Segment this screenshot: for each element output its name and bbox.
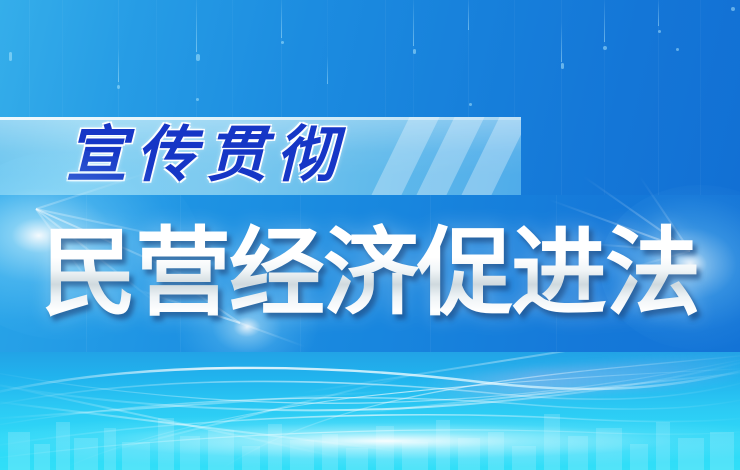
diagonal-stripes-decor xyxy=(380,117,521,195)
light-streak xyxy=(300,352,740,394)
particle-dot xyxy=(9,52,12,61)
particle-dot xyxy=(676,48,679,51)
particle-tick xyxy=(561,22,562,62)
header-band: 宣传贯彻 xyxy=(0,117,521,195)
particle-dot xyxy=(281,41,284,44)
header-title: 宣传贯彻 xyxy=(66,126,346,187)
bottom-wave-background xyxy=(0,352,740,470)
particle-dot xyxy=(413,49,416,54)
particle-dot xyxy=(117,85,120,89)
particle-tick xyxy=(281,0,282,38)
particle-dot xyxy=(469,103,472,106)
particle-tick xyxy=(118,48,119,82)
particle-tick xyxy=(327,56,328,84)
particle-dot xyxy=(561,63,564,69)
particle-tick xyxy=(604,0,605,42)
bottom-horizon-glow xyxy=(0,414,740,468)
poster-banner: 宣传贯彻 民营经济促进法 民营经济促进法 xyxy=(0,0,740,470)
particle-dot xyxy=(196,54,200,61)
particle-tick xyxy=(413,0,414,46)
particle-tick xyxy=(196,0,197,52)
particle-dot xyxy=(196,98,199,101)
particle-dot xyxy=(603,46,607,50)
particle-dot xyxy=(658,30,661,33)
particle-tick xyxy=(658,0,659,26)
particle-tick xyxy=(468,0,469,30)
particle-dot xyxy=(731,7,735,11)
main-title: 民营经济促进法 xyxy=(0,222,740,326)
